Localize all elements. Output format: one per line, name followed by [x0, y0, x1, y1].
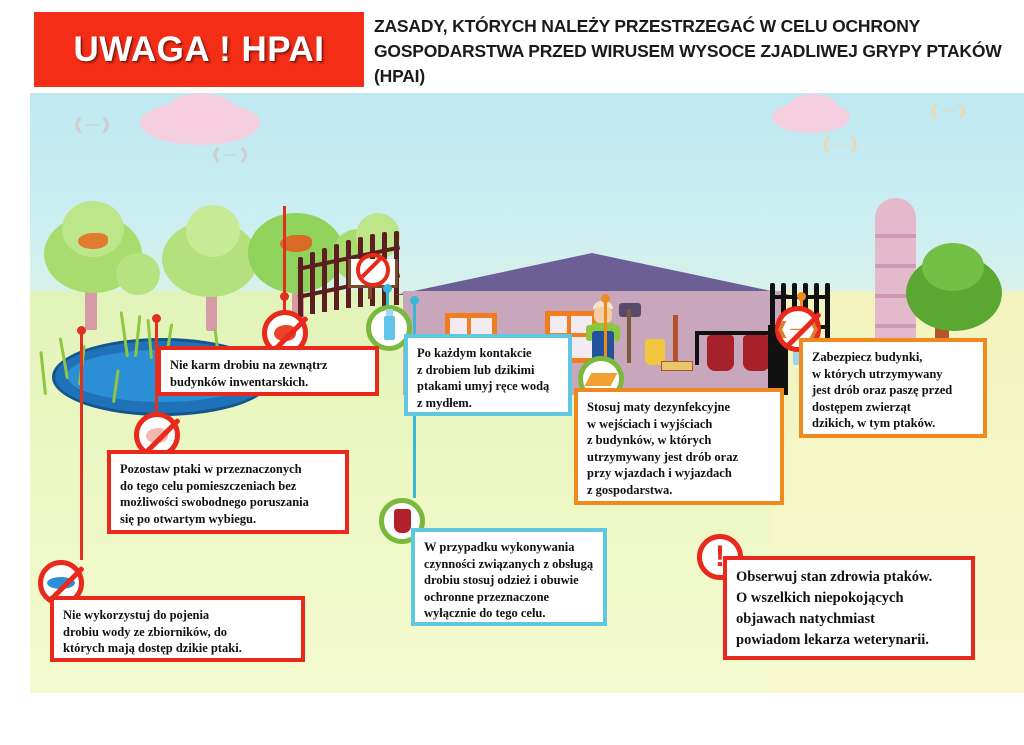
rule-line: powiadom lekarza weterynarii. — [736, 630, 962, 651]
pink-cloud — [788, 94, 838, 122]
poster-headline: ZASADY, KTÓRYCH NALEŻY PRZESTRZEGAĆ W CE… — [374, 14, 1004, 89]
connector-dot — [601, 294, 610, 303]
rule-card-monitor-health: Obserwuj stan zdrowia ptaków. O wszelkic… — [723, 556, 975, 660]
rule-line: w których utrzymywany — [812, 366, 974, 383]
rule-line: się po otwartym wybiegu. — [120, 511, 336, 528]
rule-line: których mają dostęp dzikie ptaki. — [63, 640, 292, 657]
connector-dot — [152, 314, 161, 323]
rule-card-no-surface-water: Nie wykorzystuj do pojenia drobiu wody z… — [50, 596, 305, 662]
rule-line: drobiu stosuj odzież i obuwie — [424, 572, 594, 589]
rule-card-wash-hands: Po każdym kontakcie z drobiem lub dzikim… — [404, 334, 572, 416]
tree-foliage — [922, 243, 984, 291]
connector-dot — [77, 326, 86, 335]
flying-bird-icon: ❰—❱ — [820, 135, 860, 153]
rule-line: wyłącznie do tego celu. — [424, 605, 594, 622]
rule-card-protective-clothing: W przypadku wykonywania czynności związa… — [411, 528, 607, 626]
rule-line: do tego celu pomieszczeniach bez — [120, 478, 336, 495]
rule-line: czynności związanych z obsługą — [424, 556, 594, 573]
rule-line: W przypadku wykonywania — [424, 539, 594, 556]
rule-line: z drobiem lub dzikimi — [417, 362, 559, 379]
rule-line: możliwości swobodnego poruszania — [120, 494, 336, 511]
rule-line: jest drób oraz paszę przed — [812, 382, 974, 399]
rule-line: Nie wykorzystuj do pojenia — [63, 607, 292, 624]
rule-line: drobiu wody ze zbiorników, do — [63, 624, 292, 641]
tree-foliage — [248, 213, 344, 293]
connector-line — [604, 298, 607, 358]
broom-head — [661, 361, 693, 371]
rule-line: O wszelkich niepokojących — [736, 588, 962, 609]
rule-card-no-outdoor-feeding: Nie karm drobiu na zewnątrz budynków inw… — [157, 346, 379, 396]
poster-header: UWAGA ! HPAI ZASADY, KTÓRYCH NALEŻY PRZE… — [0, 0, 1024, 96]
rule-line: z budynków, w których — [587, 432, 771, 449]
flying-bird-icon: ❰—❱ — [928, 101, 968, 119]
feeder-prohibition-icon — [356, 253, 390, 287]
connector-dot — [280, 292, 289, 301]
bird-on-tree-icon — [78, 233, 108, 249]
pink-cloud — [165, 93, 237, 133]
rule-line: Zabezpiecz budynki, — [812, 349, 974, 366]
rule-line: budynków inwentarskich. — [170, 374, 366, 391]
connector-line — [80, 330, 83, 560]
rule-line: utrzymywany jest drób oraz — [587, 449, 771, 466]
protective-apron — [743, 335, 770, 371]
tree-foliage — [116, 253, 160, 295]
rule-line: z gospodarstwa. — [587, 482, 771, 499]
rule-line: ochronne przeznaczone — [424, 589, 594, 606]
broom-handle — [673, 315, 678, 363]
warning-banner: UWAGA ! HPAI — [34, 12, 364, 87]
protective-apron — [707, 335, 734, 371]
feeder-post — [368, 285, 372, 299]
rule-line: dostępem zwierząt — [812, 399, 974, 416]
flying-bird-icon: ❰—❱ — [210, 145, 250, 163]
rule-line: Po każdym kontakcie — [417, 345, 559, 362]
rule-line: Obserwuj stan zdrowia ptaków. — [736, 567, 962, 588]
hpai-poster: UWAGA ! HPAI ZASADY, KTÓRYCH NALEŻY PRZE… — [0, 0, 1024, 745]
rule-line: z mydłem. — [417, 395, 559, 412]
connector-dot — [383, 284, 392, 293]
rule-line: Stosuj maty dezynfekcyjne — [587, 399, 771, 416]
rule-line: ptakami umyj ręce wodą — [417, 378, 559, 395]
connector-dot — [410, 296, 419, 305]
rule-line: objawach natychmiast — [736, 609, 962, 630]
rule-card-secure-buildings: Zabezpiecz budynki, w których utrzymywan… — [799, 338, 987, 438]
rule-card-disinfection-mats: Stosuj maty dezynfekcyjne w wejściach i … — [574, 388, 784, 505]
tree-foliage — [186, 205, 240, 257]
clothing-rail-leg — [695, 331, 699, 365]
rule-line: Pozostaw ptaki w przeznaczonych — [120, 461, 336, 478]
warning-banner-label: UWAGA ! HPAI — [74, 30, 325, 70]
mop-handle — [627, 309, 631, 363]
rule-line: dzikich, w tym ptaków. — [812, 415, 974, 432]
flying-bird-icon: ❰—❱ — [72, 115, 112, 133]
barn-roof — [395, 253, 790, 295]
rule-card-keep-birds-indoors: Pozostaw ptaki w przeznaczonych do tego … — [107, 450, 349, 534]
rule-line: Nie karm drobiu na zewnątrz — [170, 357, 366, 374]
rule-line: w wejściach i wyjściach — [587, 416, 771, 433]
connector-dot — [797, 292, 806, 301]
rule-line: przy wjazdach i wyjazdach — [587, 465, 771, 482]
